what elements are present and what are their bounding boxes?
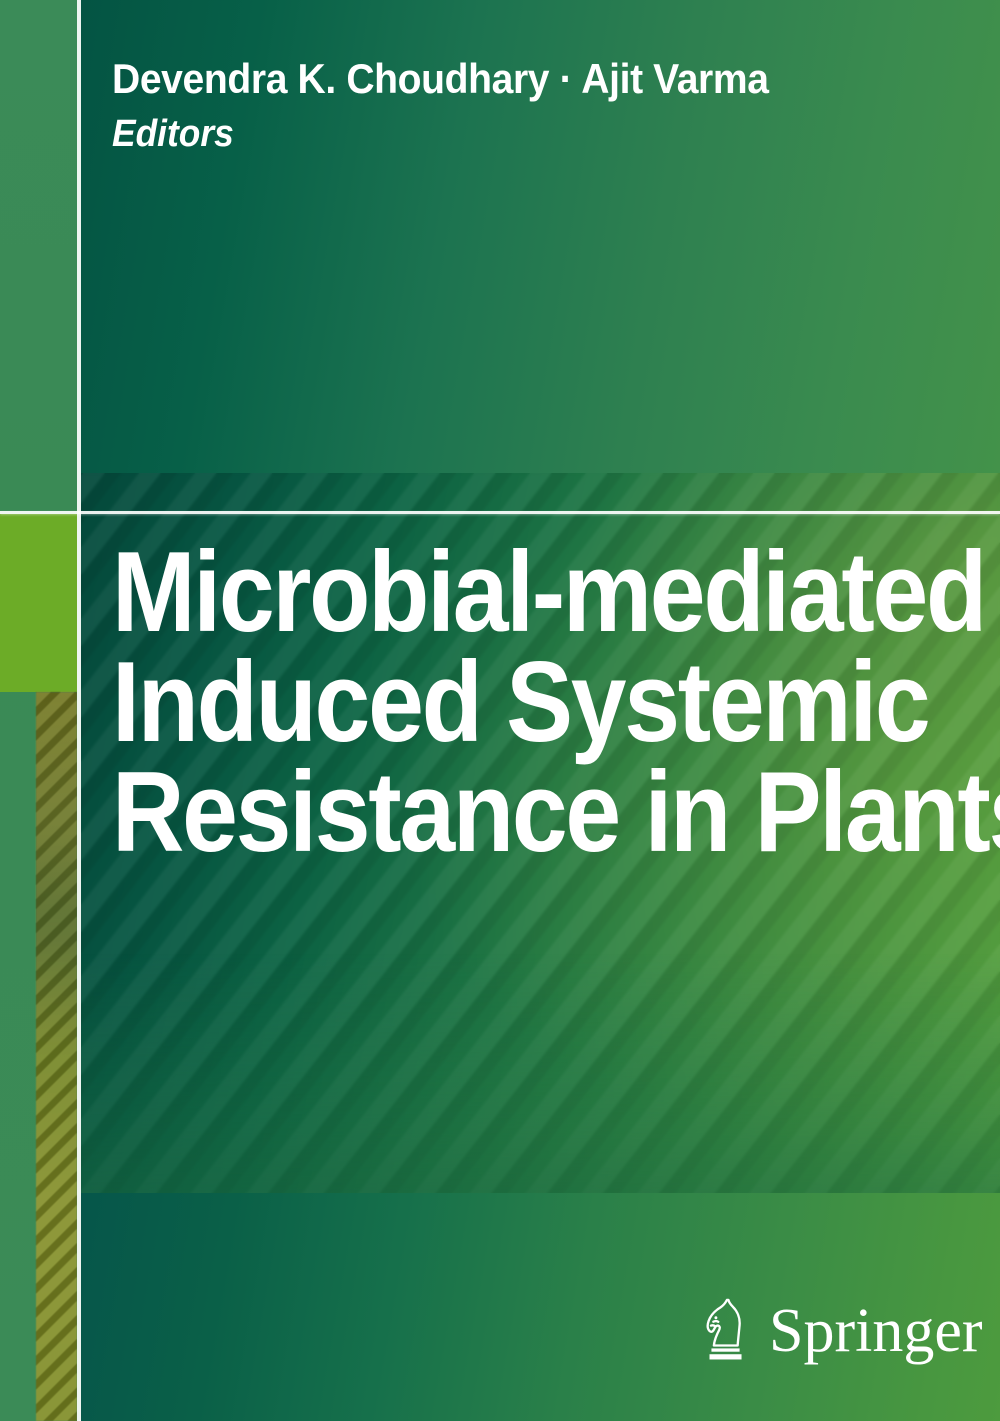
authors-block: Devendra K. Choudhary · Ajit Varma Edito… <box>112 54 932 158</box>
horizontal-divider-rule <box>0 511 1000 514</box>
author-names: Devendra K. Choudhary · Ajit Varma <box>112 54 875 104</box>
title-line-1: Microbial-mediated <box>112 538 869 648</box>
lime-accent-block <box>0 514 77 692</box>
title-line-2: Induced Systemic <box>112 648 869 758</box>
springer-knight-icon <box>697 1296 755 1362</box>
left-spine-strip <box>0 0 77 1421</box>
vertical-divider-rule <box>77 0 81 1421</box>
book-cover: Devendra K. Choudhary · Ajit Varma Edito… <box>0 0 1000 1421</box>
book-title: Microbial-mediated Induced Systemic Resi… <box>112 538 972 868</box>
olive-stripe-shading <box>36 692 77 1421</box>
springer-wordmark: Springer <box>769 1300 983 1362</box>
editors-label: Editors <box>112 110 875 158</box>
title-line-3: Resistance in Plants <box>112 758 869 868</box>
springer-logo: Springer <box>697 1296 983 1362</box>
